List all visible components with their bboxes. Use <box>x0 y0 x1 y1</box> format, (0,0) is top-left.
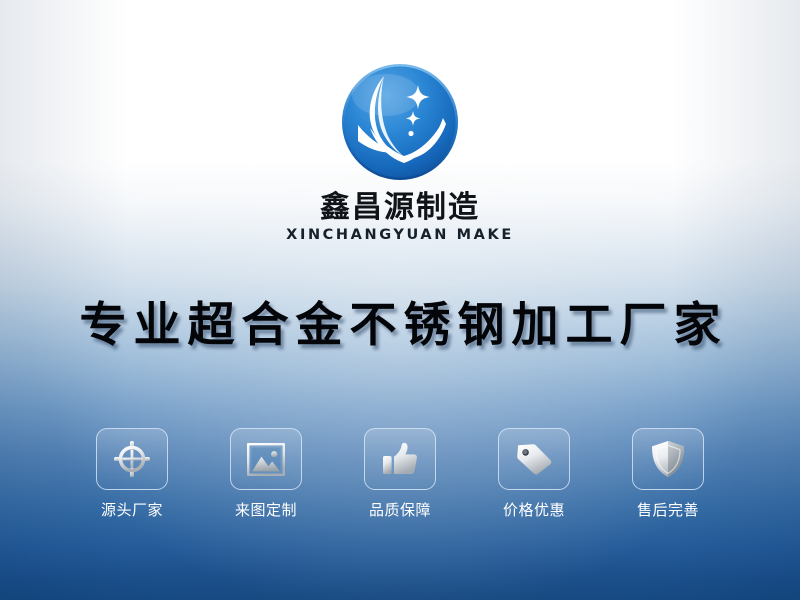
brand-logo-block: 鑫昌源制造 XINCHANGYUAN MAKE <box>0 62 800 244</box>
feature-list: 源头厂家 <box>72 428 728 519</box>
feature-icon-box <box>632 428 704 490</box>
feature-item-custom-drawing[interactable]: 来图定制 <box>206 428 326 519</box>
feature-item-source-factory[interactable]: 源头厂家 <box>72 428 192 519</box>
feature-item-price[interactable]: 价格优惠 <box>474 428 594 519</box>
feature-label: 源头厂家 <box>72 501 192 519</box>
feature-item-quality[interactable]: 品质保障 <box>340 428 460 519</box>
image-picture-icon <box>247 443 285 476</box>
thumbs-up-icon <box>382 441 418 477</box>
feature-icon-box <box>230 428 302 490</box>
swallow-circle-logo-icon <box>340 62 460 182</box>
feature-label: 售后完善 <box>608 501 728 519</box>
crosshair-target-icon <box>113 440 151 478</box>
feature-item-after-sales[interactable]: 售后完善 <box>608 428 728 519</box>
brand-name-en: XINCHANGYUAN MAKE <box>0 228 800 244</box>
brand-name-cn: 鑫昌源制造 <box>0 192 800 224</box>
feature-label: 价格优惠 <box>474 501 594 519</box>
feature-label: 来图定制 <box>206 501 326 519</box>
feature-icon-box <box>364 428 436 490</box>
feature-icon-box <box>96 428 168 490</box>
promo-banner: 鑫昌源制造 XINCHANGYUAN MAKE 专业超合金不锈钢加工厂家 <box>0 0 800 600</box>
shield-icon <box>651 440 685 478</box>
feature-icon-box <box>498 428 570 490</box>
price-tag-icon <box>515 442 553 476</box>
headline-slogan: 专业超合金不锈钢加工厂家 <box>0 300 800 353</box>
feature-label: 品质保障 <box>340 501 460 519</box>
